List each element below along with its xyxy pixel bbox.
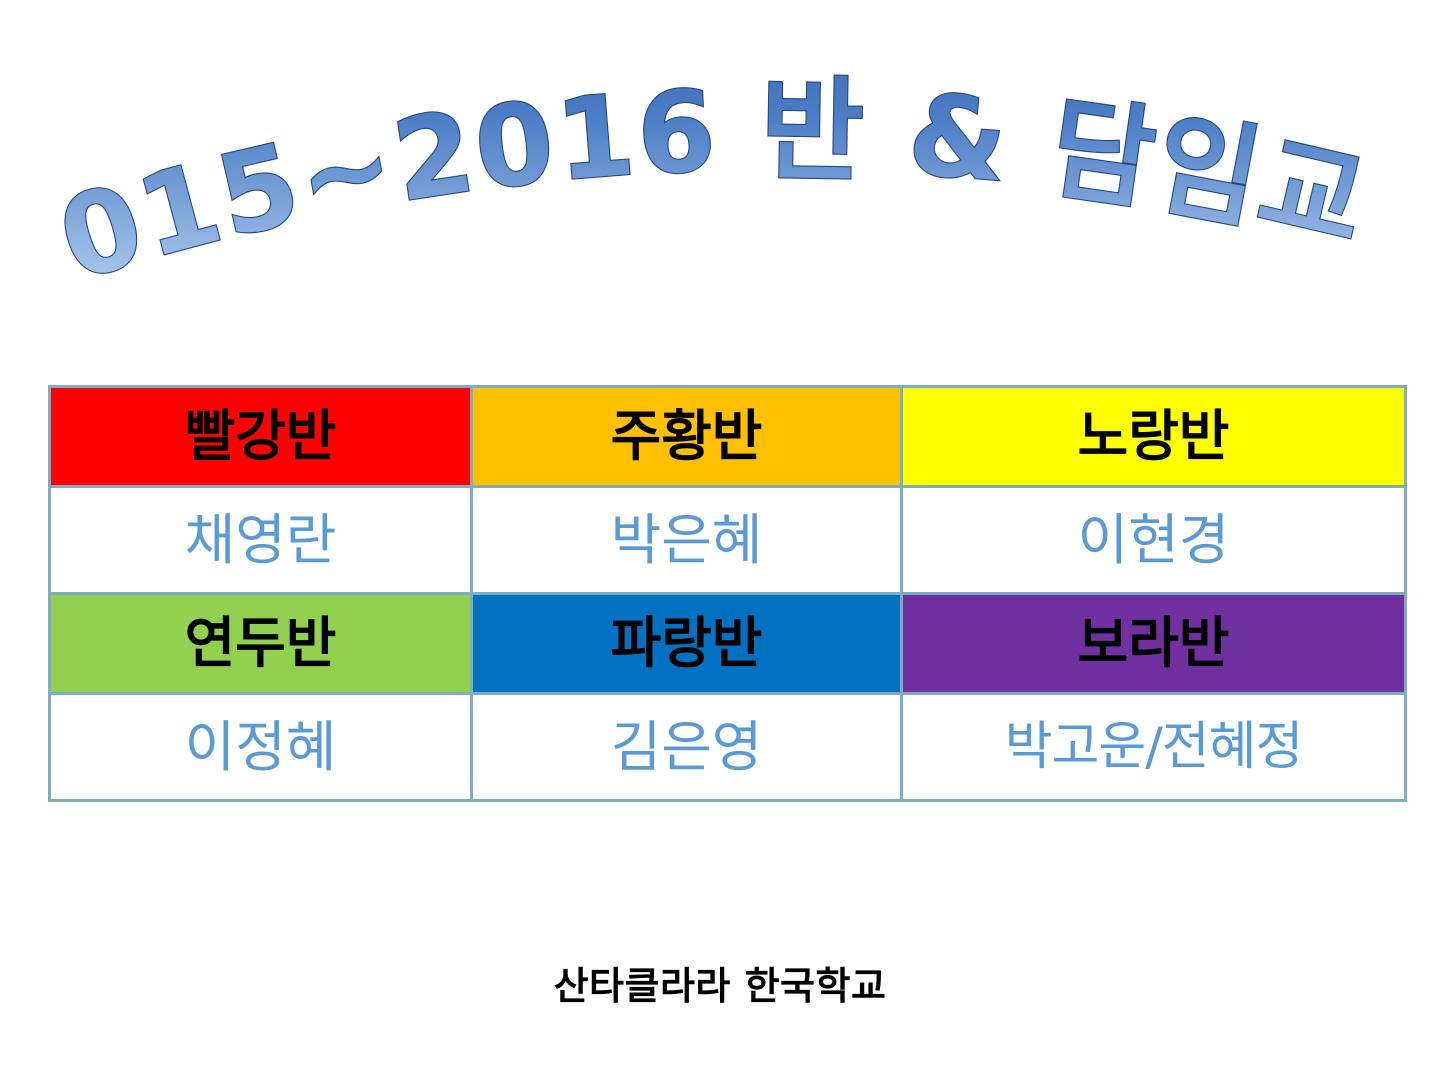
class-cell-purple: 보라반 bbox=[902, 594, 1406, 694]
page-title: 2015~2016 반 & 담임교사 bbox=[0, 0, 1379, 307]
teacher-cell-blue: 김은영 bbox=[472, 694, 902, 801]
class-cell-orange: 주황반 bbox=[472, 387, 902, 487]
table-row: 빨강반 주황반 노랑반 bbox=[50, 387, 1406, 487]
table-row: 이정혜 김은영 박고운/전혜정 bbox=[50, 694, 1406, 801]
class-cell-green: 연두반 bbox=[50, 594, 472, 694]
table-row: 채영란 박은혜 이현경 bbox=[50, 487, 1406, 594]
teacher-cell-orange: 박은혜 bbox=[472, 487, 902, 594]
school-name-footer: 산타클라라 한국학교 bbox=[0, 955, 1440, 1010]
class-cell-red: 빨강반 bbox=[50, 387, 472, 487]
teacher-cell-red: 채영란 bbox=[50, 487, 472, 594]
teacher-cell-yellow: 이현경 bbox=[902, 487, 1406, 594]
class-cell-yellow: 노랑반 bbox=[902, 387, 1406, 487]
slide-title-wordart: 2015~2016 반 & 담임교사 bbox=[0, 60, 1440, 290]
table-row: 연두반 파랑반 보라반 bbox=[50, 594, 1406, 694]
teacher-cell-green: 이정혜 bbox=[50, 694, 472, 801]
teacher-cell-purple: 박고운/전혜정 bbox=[902, 694, 1406, 801]
title-svg: 2015~2016 반 & 담임교사 bbox=[0, 60, 1440, 290]
class-teacher-table: 빨강반 주황반 노랑반 채영란 박은혜 이현경 연두반 파랑반 보라반 이정혜 … bbox=[48, 385, 1407, 802]
class-cell-blue: 파랑반 bbox=[472, 594, 902, 694]
